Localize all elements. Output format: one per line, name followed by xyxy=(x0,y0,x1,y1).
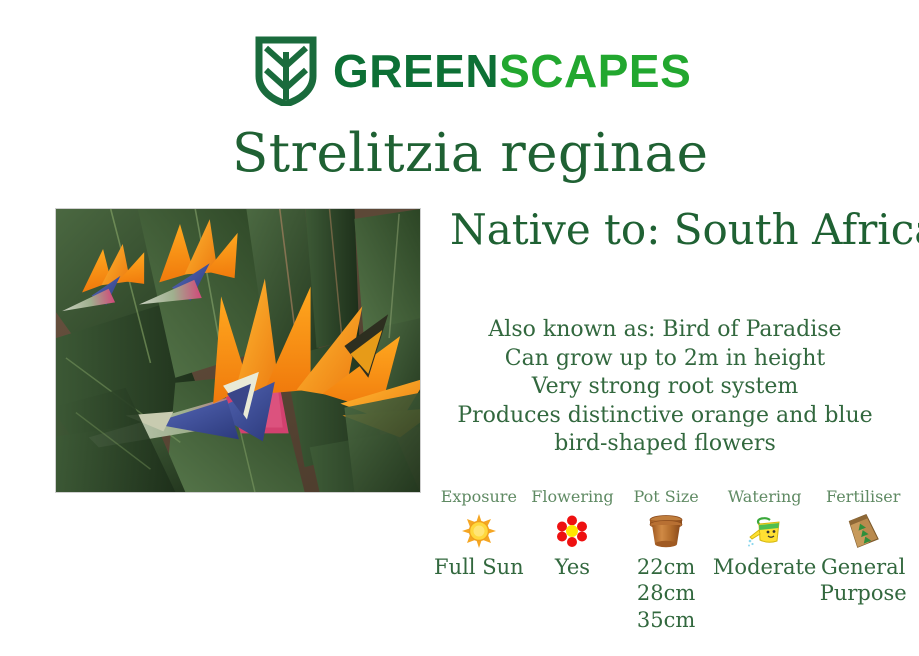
species-name: Strelitzia reginae xyxy=(232,126,702,182)
description-line-5: bird-shaped flowers xyxy=(440,430,890,459)
care-column-exposure: Exposure xyxy=(432,488,526,580)
description-line-2: Can grow up to 2m in height xyxy=(440,345,890,374)
brand-name-scapes: SCAPES xyxy=(499,45,691,97)
watering-can-icon xyxy=(746,510,784,552)
care-values-fertiliser: General Purpose xyxy=(820,554,907,608)
care-column-pot-size: Pot Size xyxy=(619,488,713,634)
sun-icon xyxy=(462,510,496,552)
care-label-pot-size: Pot Size xyxy=(633,488,698,506)
native-region-line: Native to: South Africa xyxy=(450,208,900,252)
care-column-watering: Watering Modera xyxy=(713,488,816,580)
plant-pot-icon xyxy=(646,510,686,552)
care-value: Yes xyxy=(555,554,590,581)
care-values-watering: Moderate xyxy=(713,554,816,581)
care-value: Full Sun xyxy=(434,554,524,581)
care-column-flowering: Flowering Yes xyxy=(526,488,620,580)
description-line-1: Also known as: Bird of Paradise xyxy=(440,316,890,345)
care-values-exposure: Full Sun xyxy=(434,554,524,581)
care-value: General xyxy=(820,554,907,581)
brand-logo: GREENSCAPES xyxy=(255,36,691,106)
plant-info-card: GREENSCAPES Strelitzia reginae Native to… xyxy=(0,0,919,656)
shield-leaf-icon xyxy=(255,36,317,106)
flower-icon xyxy=(556,510,588,552)
brand-name-green: GREEN xyxy=(333,45,499,97)
fertiliser-bag-icon xyxy=(843,510,883,552)
care-value: 35cm xyxy=(637,607,695,634)
care-label-fertiliser: Fertiliser xyxy=(826,488,900,506)
plant-photo xyxy=(55,208,421,493)
care-value: Purpose xyxy=(820,580,907,607)
care-label-exposure: Exposure xyxy=(441,488,517,506)
care-values-flowering: Yes xyxy=(555,554,590,581)
description-line-3: Very strong root system xyxy=(440,373,890,402)
description-line-4: Produces distinctive orange and blue xyxy=(440,402,890,431)
care-label-watering: Watering xyxy=(728,488,802,506)
plant-description: Also known as: Bird of Paradise Can grow… xyxy=(440,316,890,459)
care-value: 22cm xyxy=(637,554,695,581)
care-value: 28cm xyxy=(637,580,695,607)
care-values-pot-size: 22cm 28cm 35cm xyxy=(637,554,695,635)
care-value: Moderate xyxy=(713,554,816,581)
care-info-row: Exposure xyxy=(432,488,910,634)
care-label-flowering: Flowering xyxy=(531,488,613,506)
care-column-fertiliser: Fertiliser General xyxy=(816,488,910,607)
